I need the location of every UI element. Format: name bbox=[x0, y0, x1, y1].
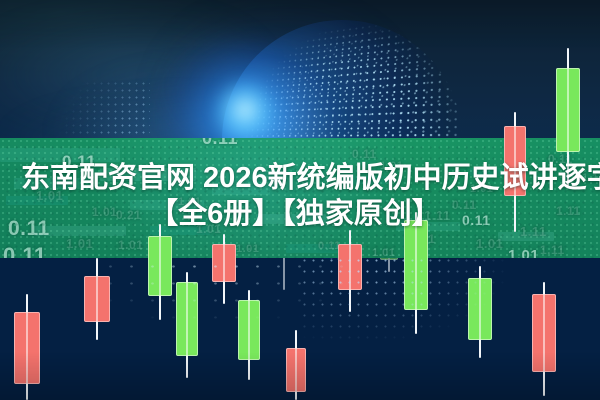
headline-line-2: 【全6册】【独家原创】 bbox=[0, 196, 600, 232]
background-bottom-dark bbox=[0, 252, 600, 400]
headline-line-1: 东南配资官网 2026新统编版初中历史试讲逐字稿 bbox=[0, 160, 600, 196]
banner-image: 0.110.210.110.110.111.011.011.011.010.21… bbox=[0, 0, 600, 400]
globe-core-flare bbox=[215, 80, 275, 140]
headline-block: 东南配资官网 2026新统编版初中历史试讲逐字稿 【全6册】【独家原创】 bbox=[0, 160, 600, 232]
